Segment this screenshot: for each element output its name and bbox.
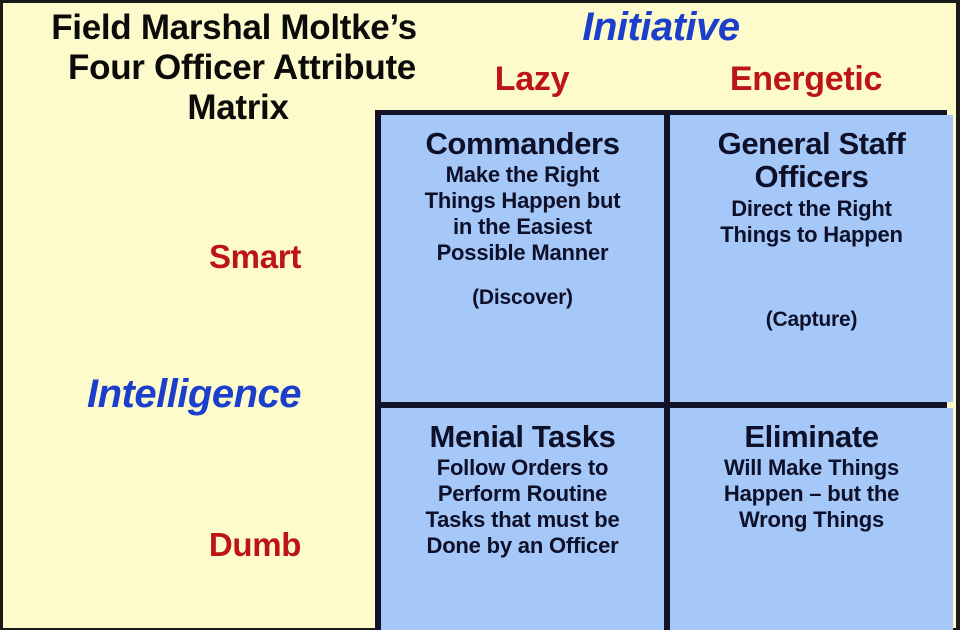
matrix-cell-body-line: Make the Right bbox=[387, 162, 658, 188]
column-header-lazy: Lazy bbox=[382, 62, 682, 96]
axis-label-initiative: Initiative bbox=[375, 7, 947, 47]
matrix-cell-body: Direct the Right Things to Happen bbox=[676, 196, 947, 247]
matrix-cell-title: Menial Tasks bbox=[387, 420, 658, 453]
matrix-cell-body-line: Things to Happen bbox=[676, 222, 947, 248]
matrix-cell-smart-energetic[interactable]: General Staff Officers Direct the Right … bbox=[670, 115, 953, 402]
row-header-smart: Smart bbox=[150, 240, 360, 273]
matrix-cell-body-line: Things Happen but bbox=[387, 188, 658, 214]
matrix-cell-smart-lazy[interactable]: Commanders Make the Right Things Happen … bbox=[381, 115, 664, 402]
matrix-cell-body-line: Will Make Things bbox=[676, 455, 947, 481]
slide-canvas: Field Marshal Moltke’s Four Officer Attr… bbox=[0, 0, 960, 630]
matrix-cell-dumb-lazy[interactable]: Menial Tasks Follow Orders to Perform Ro… bbox=[381, 408, 664, 630]
matrix-cell-body-line: Done by an Officer bbox=[387, 533, 658, 559]
matrix-cell-body-line: Direct the Right bbox=[676, 196, 947, 222]
matrix-cell-body-line: Happen – but the bbox=[676, 481, 947, 507]
matrix-cell-body-line: Possible Manner bbox=[387, 240, 658, 266]
matrix-cell-body-line: in the Easiest bbox=[387, 214, 658, 240]
matrix-cell-title: Commanders bbox=[387, 127, 658, 160]
matrix-cell-body-line: Perform Routine bbox=[387, 481, 658, 507]
matrix-cell-note: (Capture) bbox=[676, 309, 947, 330]
axis-label-intelligence: Intelligence bbox=[20, 374, 368, 414]
matrix-cell-body: Make the Right Things Happen but in the … bbox=[387, 162, 658, 265]
matrix-cell-body-line: Tasks that must be bbox=[387, 507, 658, 533]
matrix-cell-title: General Staff Officers bbox=[676, 127, 947, 194]
slide-border-top bbox=[0, 0, 960, 3]
matrix-cell-body-line: Wrong Things bbox=[676, 507, 947, 533]
matrix-cell-body-line: Follow Orders to bbox=[387, 455, 658, 481]
matrix-cell-body: Follow Orders to Perform Routine Tasks t… bbox=[387, 455, 658, 558]
matrix-cell-dumb-energetic[interactable]: Eliminate Will Make Things Happen – but … bbox=[670, 408, 953, 630]
row-header-dumb: Dumb bbox=[150, 528, 360, 561]
slide-border-left bbox=[0, 0, 3, 630]
slide-border-right bbox=[956, 0, 960, 630]
matrix-cell-body: Will Make Things Happen – but the Wrong … bbox=[676, 455, 947, 532]
matrix-cell-note: (Discover) bbox=[387, 287, 658, 308]
attribute-matrix: Commanders Make the Right Things Happen … bbox=[375, 110, 947, 630]
column-header-energetic: Energetic bbox=[666, 62, 946, 96]
matrix-cell-title: Eliminate bbox=[676, 420, 947, 453]
